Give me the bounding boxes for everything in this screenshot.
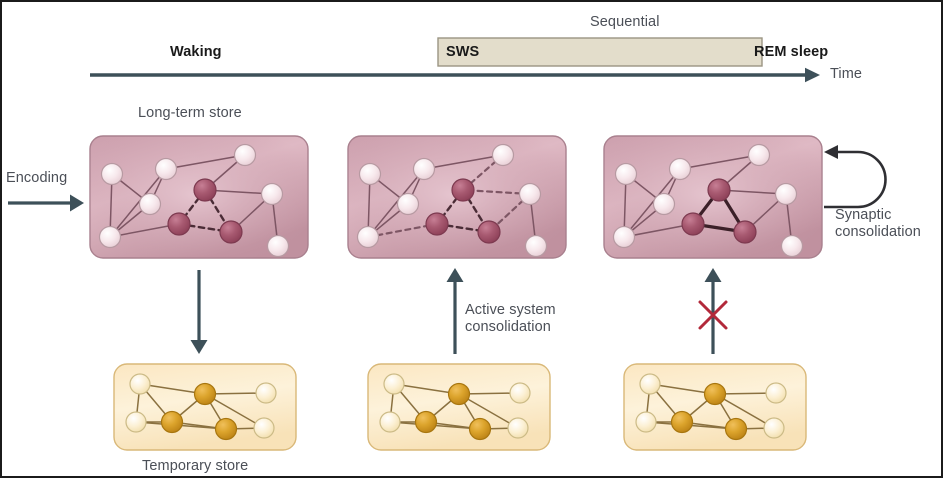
- figure-root: Waking Sequential SWS REM sleep Time Enc…: [0, 0, 943, 478]
- memory-node-active: [452, 179, 474, 201]
- memory-node-active: [682, 213, 704, 235]
- label-sequential: Sequential: [590, 14, 660, 31]
- memory-node: [670, 159, 691, 180]
- memory-node: [126, 412, 146, 432]
- memory-node-active: [672, 412, 693, 433]
- synaptic-loop-arrow-icon: [824, 145, 885, 207]
- label-waking: Waking: [170, 44, 222, 61]
- memory-node: [256, 383, 276, 403]
- label-long-term-store: Long-term store: [138, 105, 242, 122]
- memory-node: [493, 145, 514, 166]
- memory-node: [254, 418, 274, 438]
- label-rem-sleep: REM sleep: [754, 44, 828, 61]
- memory-node-active: [416, 412, 437, 433]
- encoding-to-temporary-arrow: [191, 270, 208, 354]
- memory-node: [526, 236, 547, 257]
- memory-node: [102, 164, 123, 185]
- label-time-axis: Time: [830, 66, 862, 83]
- memory-node: [384, 374, 404, 394]
- memory-node: [766, 383, 786, 403]
- memory-node: [235, 145, 256, 166]
- memory-node: [636, 412, 656, 432]
- memory-node: [520, 184, 541, 205]
- memory-node: [360, 164, 381, 185]
- memory-node: [749, 145, 770, 166]
- memory-node-active: [708, 179, 730, 201]
- memory-node: [782, 236, 803, 257]
- memory-node: [130, 374, 150, 394]
- memory-node: [268, 236, 289, 257]
- memory-node-active: [168, 213, 190, 235]
- memory-node-active: [220, 221, 242, 243]
- memory-node: [262, 184, 283, 205]
- label-sws: SWS: [446, 44, 479, 61]
- memory-node-active: [726, 419, 747, 440]
- memory-node: [414, 159, 435, 180]
- diagram-canvas: [2, 2, 943, 478]
- label-encoding: Encoding: [6, 170, 67, 187]
- memory-node-active: [216, 419, 237, 440]
- loop-arrowhead: [824, 145, 838, 159]
- sleep-stage-bar: [438, 38, 762, 66]
- encoding-arrow: [8, 195, 84, 212]
- memory-node-active: [195, 384, 216, 405]
- memory-node: [640, 374, 660, 394]
- memory-node: [764, 418, 784, 438]
- memory-node-active: [194, 179, 216, 201]
- memory-node: [654, 194, 675, 215]
- memory-node: [776, 184, 797, 205]
- memory-node: [614, 227, 635, 248]
- memory-node: [616, 164, 637, 185]
- memory-node-active: [162, 412, 183, 433]
- memory-node: [358, 227, 379, 248]
- memory-node-active: [705, 384, 726, 405]
- label-active-system-consolidation: Active system consolidation: [465, 302, 556, 336]
- memory-node-active: [470, 419, 491, 440]
- memory-node: [100, 227, 121, 248]
- memory-node: [508, 418, 528, 438]
- memory-node-active: [426, 213, 448, 235]
- memory-node-active: [478, 221, 500, 243]
- memory-node: [380, 412, 400, 432]
- label-temporary-store: Temporary store: [142, 458, 248, 475]
- loop-path: [824, 152, 885, 207]
- active-system-consolidation-arrow: [447, 268, 464, 354]
- memory-node: [140, 194, 161, 215]
- memory-node: [156, 159, 177, 180]
- memory-node: [398, 194, 419, 215]
- memory-node-active: [449, 384, 470, 405]
- timeline-axis: [90, 68, 820, 82]
- memory-node: [510, 383, 530, 403]
- label-synaptic-consolidation: Synaptic consolidation: [835, 207, 921, 241]
- memory-node-active: [734, 221, 756, 243]
